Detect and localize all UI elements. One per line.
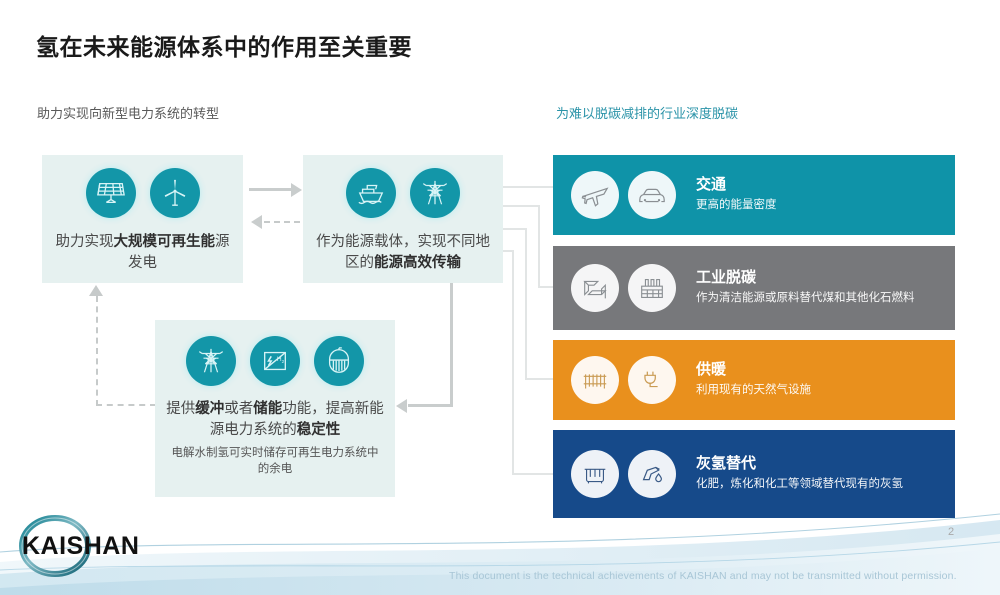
branch-line-bar2-v xyxy=(538,205,540,288)
branch-line-bar3-h1 xyxy=(503,228,527,230)
arrowhead-to-box2 xyxy=(291,183,302,197)
flow-box-text: 提供缓冲或者储能功能，提高新能源电力系统的稳定性 xyxy=(155,399,395,441)
logo-wordmark: KAISHAN xyxy=(22,532,139,560)
sector-text: 灰氢替代 化肥，炼化和化工等领域替代现有的灰氢 xyxy=(696,455,903,493)
branch-line-bar4-h2 xyxy=(512,473,553,475)
sector-bar-transport[interactable]: 交通 更高的能量密度 xyxy=(553,155,955,235)
sector-description: 化肥，炼化和化工等领域替代现有的灰氢 xyxy=(696,477,903,493)
slide-canvas: 氢在未来能源体系中的作用至关重要 助力实现向新型电力系统的转型 为难以脱碳减排的… xyxy=(0,0,1000,595)
icon-row xyxy=(571,450,676,498)
cargo-ship-icon xyxy=(346,168,396,218)
text-bold-part: 缓冲 xyxy=(195,401,224,417)
text-part: 提供 xyxy=(166,401,195,417)
sector-description: 更高的能量密度 xyxy=(696,198,777,214)
sector-text: 供暖 利用现有的天然气设施 xyxy=(696,361,811,399)
flow-box-text: 助力实现大规模可再生能源发电 xyxy=(42,232,243,274)
connector-box3-left xyxy=(96,404,156,406)
sector-text: 交通 更高的能量密度 xyxy=(696,176,777,214)
icon-row: H 2 xyxy=(155,336,395,386)
left-column-subtitle: 助力实现向新型电力系统的转型 xyxy=(37,103,219,122)
kaishan-logo-mark: KAISHAN xyxy=(8,515,158,577)
icon-row xyxy=(42,168,243,218)
connector-box2-to-box1 xyxy=(264,221,300,223)
flow-box-subtext: 电解水制氢可实时储存可再生电力系统中的余电 xyxy=(155,445,395,477)
icon-row xyxy=(571,171,676,219)
sector-description: 利用现有的天然气设施 xyxy=(696,383,811,399)
branch-line-bar3-v xyxy=(525,228,527,380)
car-icon xyxy=(628,171,676,219)
arrowhead-to-box1-up xyxy=(89,285,103,296)
radiator-icon xyxy=(571,356,619,404)
connector-box2-down xyxy=(450,283,453,407)
sector-description: 作为清洁能源或原料替代煤和其他化石燃料 xyxy=(696,291,915,307)
icon-row xyxy=(303,168,503,218)
arrowhead-to-box1 xyxy=(251,215,262,229)
connector-to-box3 xyxy=(408,404,453,407)
right-column-subtitle: 为难以脱碳减排的行业深度脱碳 xyxy=(556,103,738,122)
text-bold-part: 大规模可再生能 xyxy=(114,234,216,250)
sector-title: 交通 xyxy=(696,176,777,194)
solar-panel-icon xyxy=(86,168,136,218)
branch-line-bar2-h1 xyxy=(503,205,540,207)
confidentiality-note: This document is the technical achieveme… xyxy=(449,570,957,582)
storage-tank-icon xyxy=(314,336,364,386)
text-bold-part: 储能 xyxy=(253,401,282,417)
steel-beam-icon xyxy=(571,264,619,312)
flow-box-text: 作为能源载体，实现不同地区的能源高效传输 xyxy=(303,232,503,274)
branch-line-bar2-h2 xyxy=(538,286,553,288)
factory-icon xyxy=(628,264,676,312)
wind-turbine-icon xyxy=(150,168,200,218)
flow-box-renewable-generation[interactable]: 助力实现大规模可再生能源发电 xyxy=(42,155,243,283)
hydrogen-converter-icon: H 2 xyxy=(250,336,300,386)
branch-line-bar4-v xyxy=(512,250,514,475)
transmission-tower-icon xyxy=(186,336,236,386)
power-plug-icon xyxy=(628,356,676,404)
icon-row xyxy=(571,356,676,404)
airplane-icon xyxy=(571,171,619,219)
sector-text: 工业脱碳 作为清洁能源或原料替代煤和其他化石燃料 xyxy=(696,269,915,307)
text-bold-part: 稳定性 xyxy=(297,422,341,438)
connector-box3-up xyxy=(96,296,98,406)
branch-line-bar3-h2 xyxy=(525,378,553,380)
sector-title: 供暖 xyxy=(696,361,811,379)
page-number: 2 xyxy=(948,526,954,538)
test-tubes-icon xyxy=(571,450,619,498)
sector-bar-industrial-decarbonization[interactable]: 工业脱碳 作为清洁能源或原料替代煤和其他化石燃料 xyxy=(553,246,955,330)
sector-bar-heating[interactable]: 供暖 利用现有的天然气设施 xyxy=(553,340,955,420)
fuel-nozzle-icon xyxy=(628,450,676,498)
connector-box1-to-box2 xyxy=(249,188,293,191)
svg-text:2: 2 xyxy=(282,359,285,364)
text-part: 或者 xyxy=(224,401,253,417)
kaishan-logo: KAISHAN xyxy=(8,515,158,577)
flow-box-buffer-and-storage[interactable]: H 2 提供缓冲或者储能功能，提高新能源电力系统的稳定性 电解水制氢可实时储存可… xyxy=(155,320,395,497)
branch-line-bar1-h xyxy=(503,186,553,188)
sector-title: 工业脱碳 xyxy=(696,269,915,287)
sector-title: 灰氢替代 xyxy=(696,455,903,473)
text-part: 助力实现 xyxy=(56,234,114,250)
flow-box-energy-carrier-transmission[interactable]: 作为能源载体，实现不同地区的能源高效传输 xyxy=(303,155,503,283)
transmission-tower-icon xyxy=(410,168,460,218)
arrowhead-to-box3 xyxy=(396,399,407,413)
text-bold-part: 能源高效传输 xyxy=(374,255,461,271)
icon-row xyxy=(571,264,676,312)
page-title: 氢在未来能源体系中的作用至关重要 xyxy=(36,28,412,62)
